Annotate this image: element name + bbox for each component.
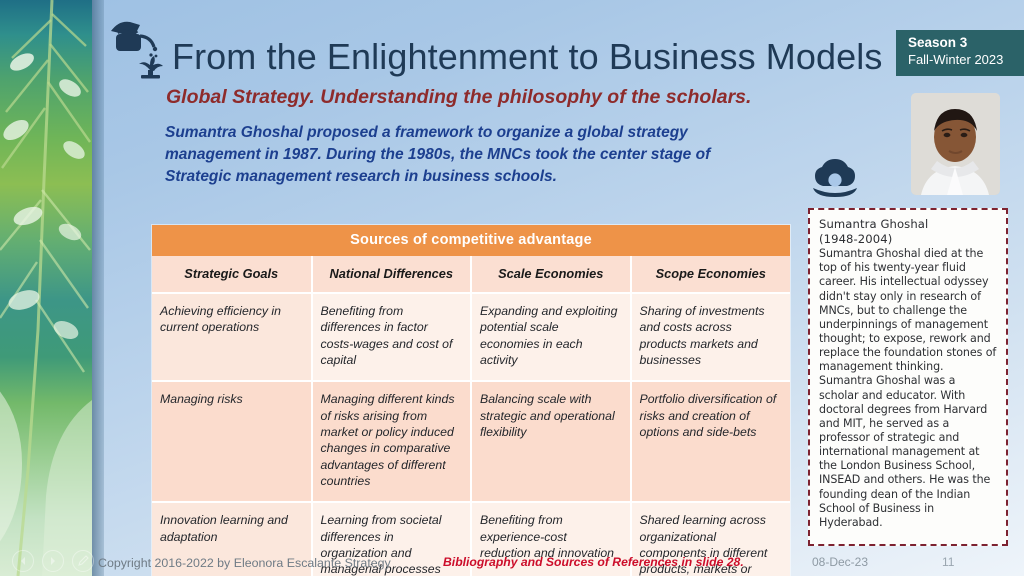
table-cell-goal: Managing risks (152, 381, 312, 502)
slide-canvas: From the Enlightenment to Business Model… (0, 0, 1024, 576)
slideshow-controls[interactable] (12, 550, 94, 572)
lead-paragraph: Sumantra Ghoshal proposed a framework to… (165, 122, 775, 188)
season-badge-title: Season 3 (908, 34, 1024, 52)
slide-number: 11 (942, 555, 954, 569)
biography-text: Sumantra Ghoshal died at the top of his … (819, 247, 998, 530)
slide-date: 08-Dec-23 (812, 555, 868, 569)
bibliography-note: Bibliography and Sources of References i… (443, 555, 744, 569)
leaf-strip-edge (92, 0, 104, 576)
page-title: From the Enlightenment to Business Model… (172, 36, 882, 78)
season-badge-period: Fall-Winter 2023 (908, 52, 1024, 69)
table-cell-scope: Sharing of investments and costs across … (631, 293, 791, 381)
table-cell-national: Managing different kinds of risks arisin… (312, 381, 472, 502)
column-header-strategic-goals: Strategic Goals (152, 256, 312, 293)
watering-can-icon (108, 18, 174, 80)
biography-years: (1948-2004) (819, 232, 998, 247)
table-title: Sources of competitive advantage (152, 225, 790, 256)
biography-paragraph-2: Sumantra Ghoshal was a scholar and educa… (819, 374, 998, 530)
table-title-row: Sources of competitive advantage (152, 225, 790, 256)
biography-note: Sumantra Ghoshal (1948-2004) Sumantra Gh… (808, 208, 1008, 546)
pen-icon (77, 555, 89, 567)
table-column-headers: Strategic Goals National Differences Sca… (152, 256, 790, 293)
column-header-national-differences: National Differences (312, 256, 472, 293)
competitive-advantage-table: Sources of competitive advantage Strateg… (152, 225, 790, 576)
biography-name: Sumantra Ghoshal (819, 217, 998, 232)
table-cell-scope: Portfolio diversification of risks and c… (631, 381, 791, 502)
next-slide-button[interactable] (42, 550, 64, 572)
leaf-vein-overlay (0, 0, 92, 576)
pen-tool-button[interactable] (72, 550, 94, 572)
monstera-leaf-image (0, 0, 92, 576)
season-badge: Season 3 Fall-Winter 2023 (896, 30, 1024, 76)
column-header-scope-economies: Scope Economies (631, 256, 791, 293)
table-cell-goal: Achieving efficiency in current operatio… (152, 293, 312, 381)
table-cell-national: Benefiting from differences in factor co… (312, 293, 472, 381)
table-body: Achieving efficiency in current operatio… (152, 293, 790, 576)
previous-slide-button[interactable] (12, 550, 34, 572)
column-header-scale-economies: Scale Economies (471, 256, 631, 293)
biography-paragraph-1: Sumantra Ghoshal died at the top of his … (819, 247, 998, 374)
copyright-text: Copyright 2016-2022 by Eleonora Escalant… (98, 556, 391, 570)
chevron-right-icon (48, 556, 58, 566)
page-subtitle: Global Strategy. Understanding the philo… (166, 86, 751, 109)
portrait-photo (911, 93, 1000, 195)
oyster-pearl-icon (810, 157, 860, 199)
table-cell-scale: Balancing scale with strategic and opera… (471, 381, 631, 502)
table-row: Achieving efficiency in current operatio… (152, 293, 790, 381)
table-row: Managing risks Managing different kinds … (152, 381, 790, 502)
footer-bar: Copyright 2016-2022 by Eleonora Escalant… (0, 546, 1024, 576)
table-cell-scale: Expanding and exploiting potential scale… (471, 293, 631, 381)
chevron-left-icon (18, 556, 28, 566)
